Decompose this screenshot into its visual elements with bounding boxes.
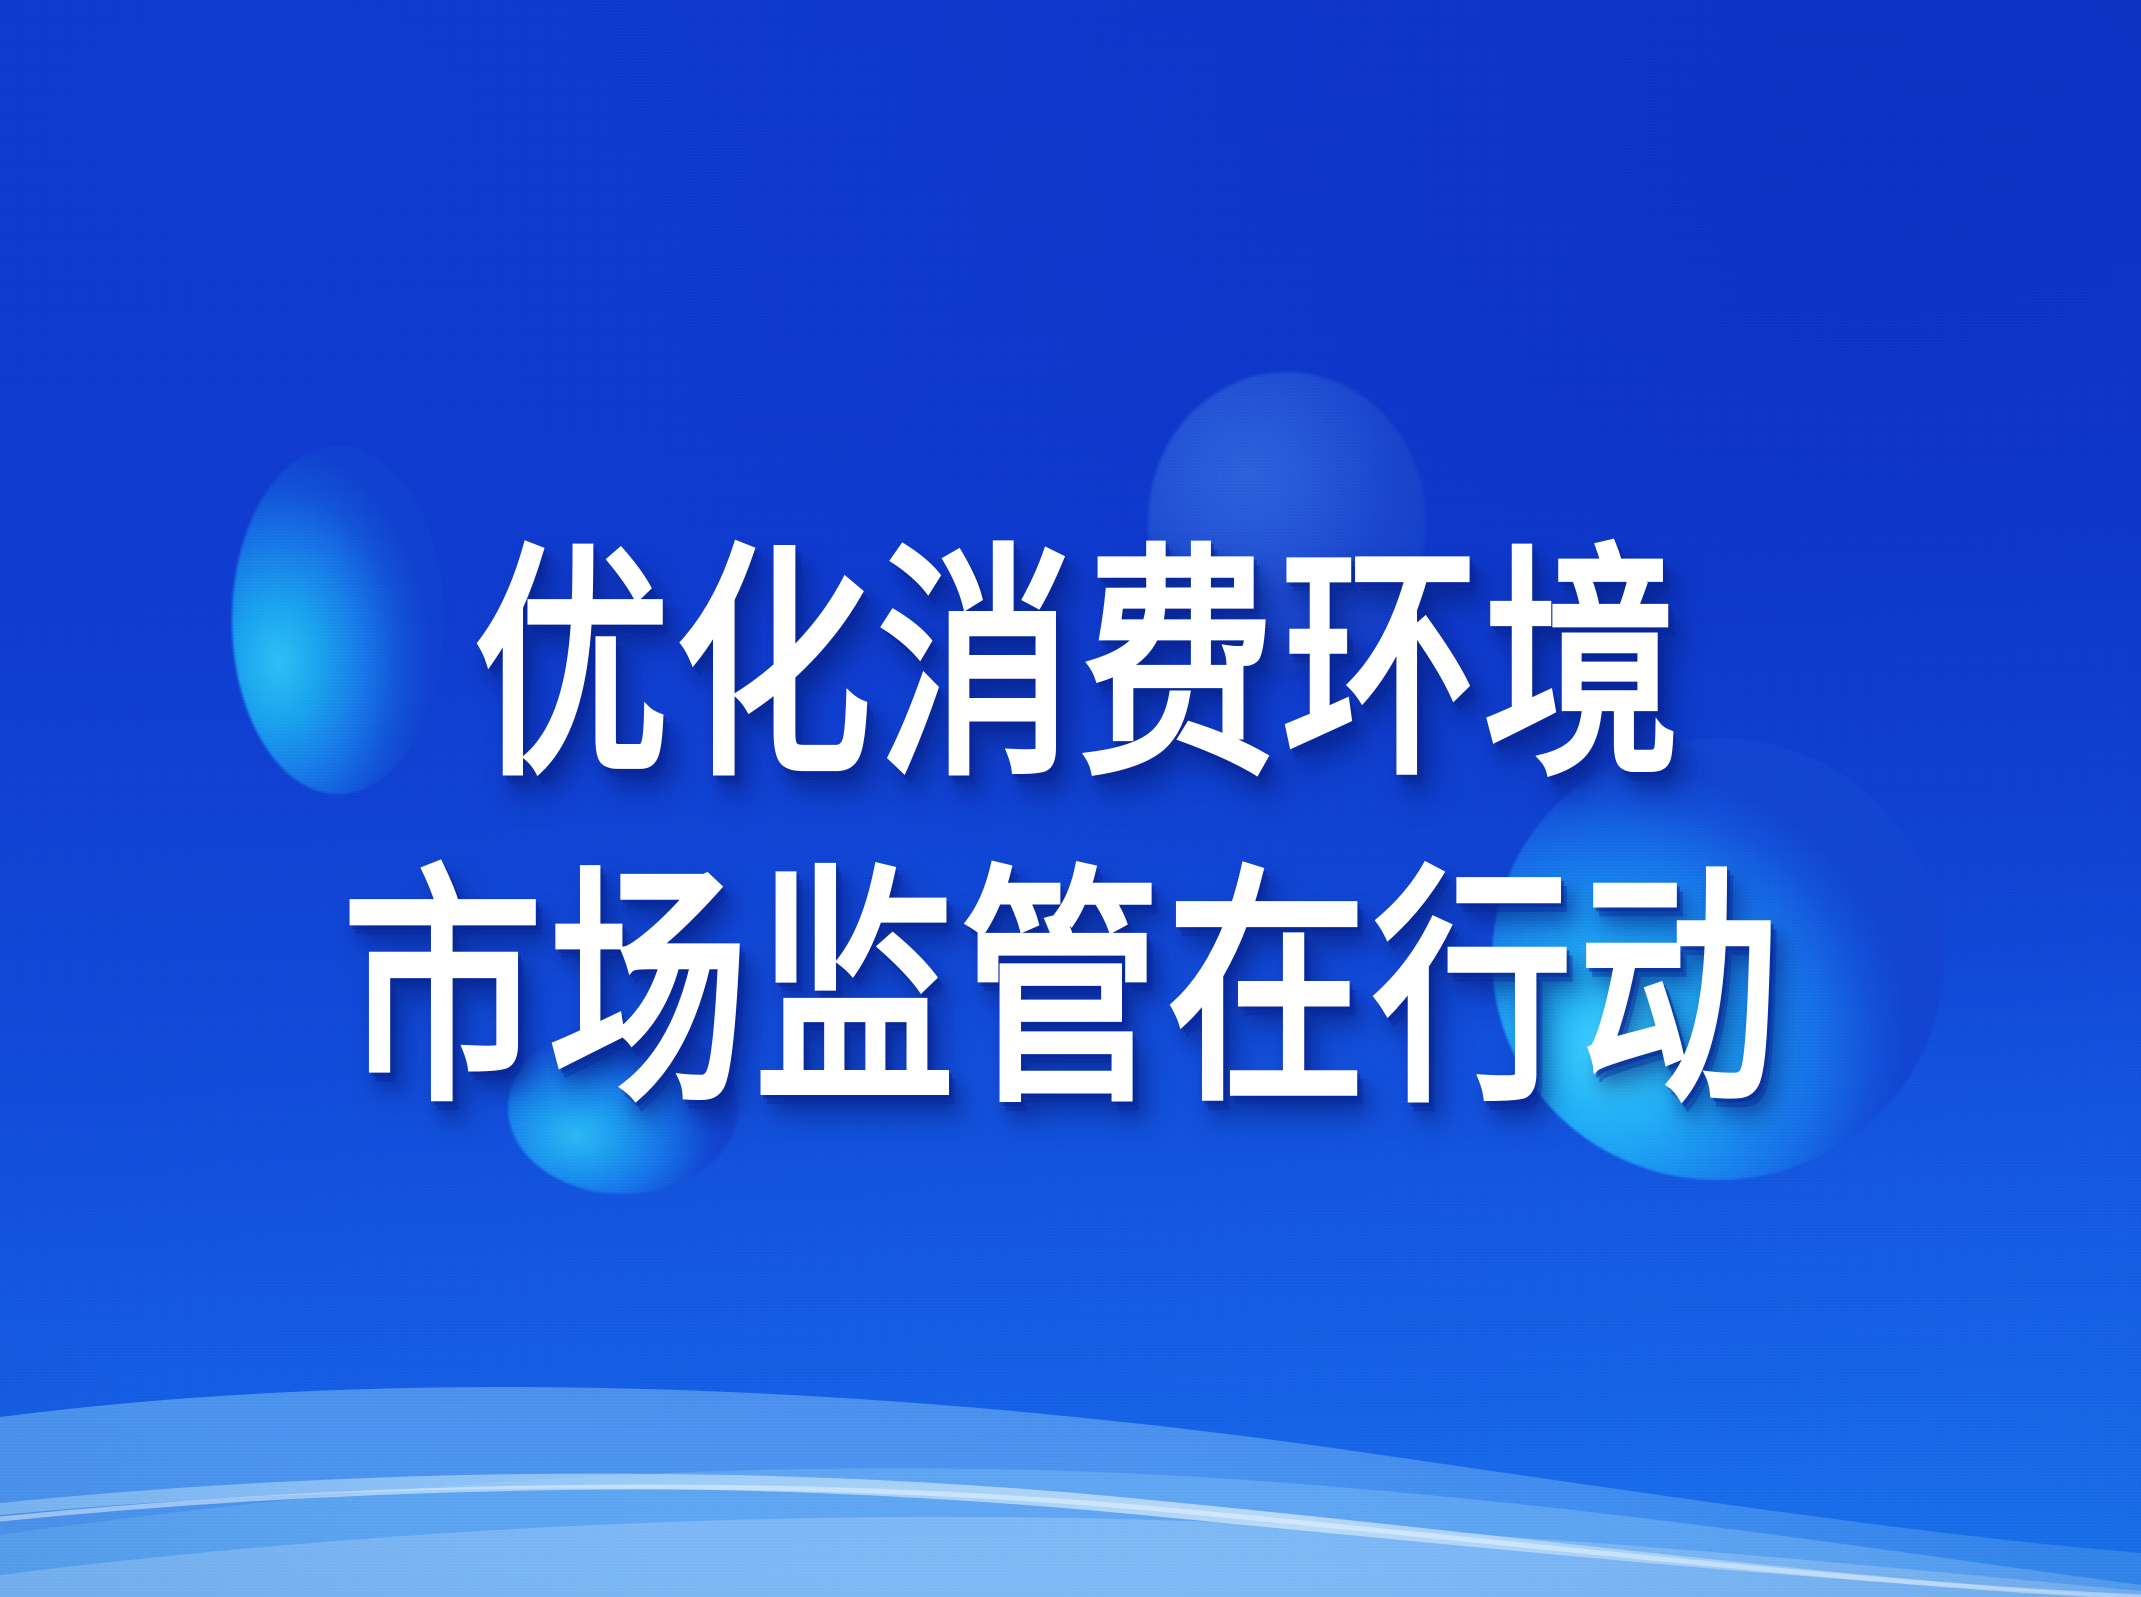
poster-canvas: 优化消费环境 市场监管在行动 [0,0,2141,1597]
decorative-bubble-top [1148,372,1426,672]
decorative-bubble-left [232,446,444,794]
bottom-wave-decoration [0,1267,2141,1597]
decorative-bubble-right [1492,738,1944,1180]
decorative-bubble-small [508,1022,738,1194]
